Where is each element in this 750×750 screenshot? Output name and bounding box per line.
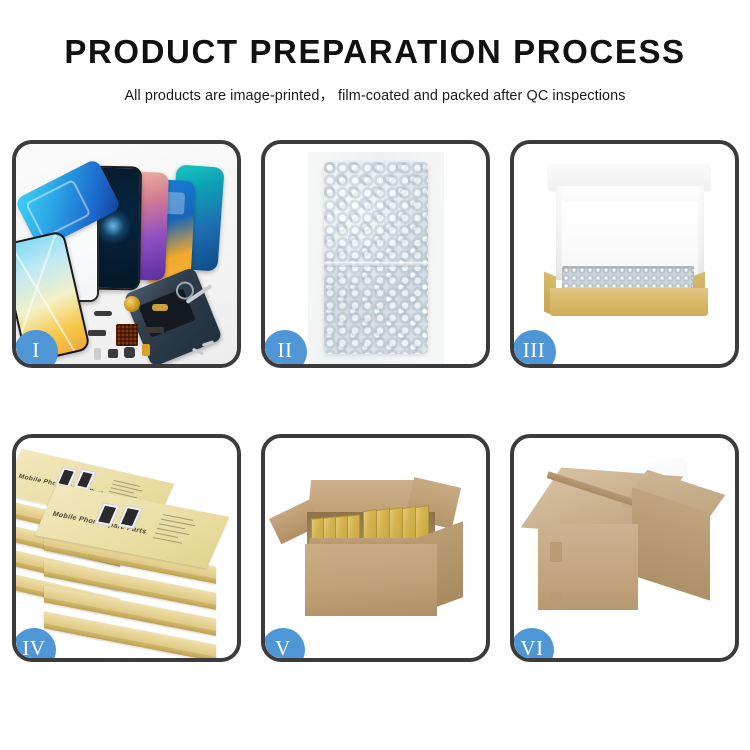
part-connector-strip-icon: [88, 330, 106, 336]
part-logic-board-icon: [116, 324, 138, 346]
part-vibration-motor-icon: [124, 296, 140, 312]
process-steps-grid: I II III: [12, 140, 738, 662]
step-2-image: II: [265, 144, 486, 364]
part-flex-cable-icon: [152, 304, 168, 311]
carton-body-icon: [305, 544, 437, 616]
part-earpiece-mesh-icon: [94, 311, 112, 316]
step-panel-3[interactable]: III: [510, 140, 739, 368]
page-header: PRODUCT PREPARATION PROCESS All products…: [0, 0, 750, 105]
step-4-image: Mobile Phone Spare Parts Mobile Phone Sp…: [16, 438, 237, 658]
part-antenna-flex-icon: [144, 327, 164, 333]
bubble-wrap-icon: [324, 162, 428, 354]
step-panel-2[interactable]: II: [261, 140, 490, 368]
step-1-image: I: [16, 144, 237, 364]
carton-tape-lower-icon: [550, 592, 562, 610]
inner-box-liner-icon: [562, 202, 698, 274]
inner-box-front-icon: [550, 288, 708, 316]
step-3-image: III: [514, 144, 735, 364]
step-panel-5[interactable]: V: [261, 434, 490, 662]
step-panel-6[interactable]: VI: [510, 434, 739, 662]
part-camera-module-icon: [108, 349, 118, 358]
carton-tape-upper-icon: [550, 542, 562, 562]
step-panel-1[interactable]: I: [12, 140, 241, 368]
part-battery-connector-icon: [142, 344, 150, 356]
page-title: PRODUCT PREPARATION PROCESS: [0, 34, 750, 70]
step-panel-4[interactable]: Mobile Phone Spare Parts Mobile Phone Sp…: [12, 434, 241, 662]
part-speaker-icon: [124, 347, 135, 358]
step-5-image: V: [265, 438, 486, 658]
page-subtitle: All products are image-printed， film-coa…: [0, 84, 750, 105]
part-sim-tray-icon: [94, 348, 101, 360]
step-6-image: VI: [514, 438, 735, 658]
